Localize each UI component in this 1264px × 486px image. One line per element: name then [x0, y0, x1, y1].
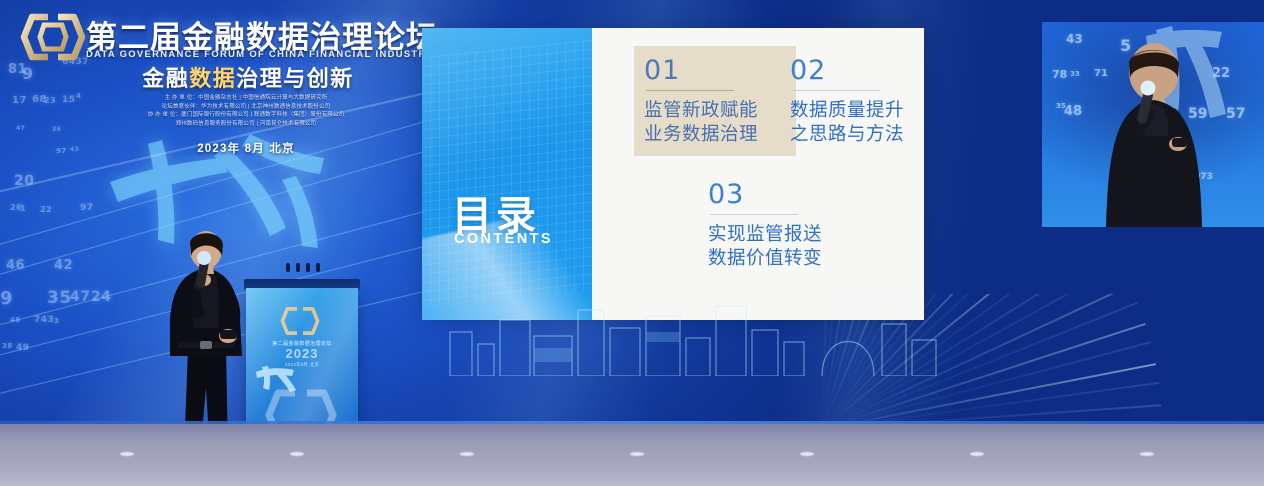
floor-light	[970, 452, 984, 456]
camera-feed-number: 43	[1066, 32, 1083, 46]
podium-mic-icon	[316, 263, 320, 272]
toc-item-01-number: 01	[644, 56, 790, 86]
floor-light	[1140, 452, 1154, 456]
forum-logo-icon	[20, 9, 86, 65]
toc-item-03-line1: 实现监管报送	[708, 222, 856, 246]
camera-feed-number: 48	[1064, 104, 1082, 119]
toc-item-02-line2: 之思路与方法	[790, 122, 924, 146]
slide-toc-list: 01 监管新政赋能 业务数据治理 02 数据质量提升 之思路与方法 03	[592, 28, 924, 320]
floor-light	[460, 452, 474, 456]
forum-theme: 金融数据治理与创新	[88, 61, 408, 93]
toc-item-03-number: 03	[708, 180, 856, 210]
forum-organizers: 主 办 单 位：中国金融杂志社 | 中国信通院云计算与大数据研究所 论坛首席伙伴…	[88, 94, 404, 128]
toc-item-02-line1: 数据质量提升	[790, 98, 924, 122]
toc-item-02[interactable]: 02 数据质量提升 之思路与方法	[790, 56, 924, 146]
toc-item-03-rule	[710, 214, 798, 215]
toc-item-02-text: 数据质量提升 之思路与方法	[790, 98, 924, 146]
speaker-camera-feed: 435783371224835595788973	[1042, 22, 1264, 227]
toc-item-03-line2: 数据价值转变	[708, 246, 856, 270]
podium-mic-icon	[296, 263, 300, 272]
forum-date-location: 2023年 8月 北京	[88, 140, 404, 156]
toc-item-01[interactable]: 01 监管新政赋能 业务数据治理	[634, 46, 796, 156]
toc-item-02-number: 02	[790, 56, 924, 86]
forum-theme-accent: 数据	[189, 66, 236, 91]
toc-item-03-text: 实现监管报送 数据价值转变	[708, 222, 856, 270]
camera-feed-number: 33	[1070, 70, 1080, 78]
forum-theme-part1: 金融	[142, 66, 189, 91]
organizer-line: 协 办 单 位：厦门国际银行股份有限公司 | 联通数字科技（集团）股份有限公司	[88, 111, 404, 120]
city-skyline-graphic	[430, 302, 950, 376]
floor-light	[800, 452, 814, 456]
floor-light	[630, 452, 644, 456]
slide-contents-panel: 目录 CONTENTS	[422, 28, 592, 320]
camera-feed-speaker	[1088, 40, 1220, 227]
conference-stage-photo: 8196437176823154202612297464293547244674…	[0, 0, 1264, 486]
slide-toc-title-en: CONTENTS	[454, 231, 592, 247]
organizer-line: 郑州数码信息服务股份有限公司 | 河南昆仑技术有限公司	[88, 120, 404, 129]
toc-item-01-line2: 业务数据治理	[644, 122, 790, 146]
toc-item-01-text: 监管新政赋能 业务数据治理	[644, 98, 790, 146]
toc-item-03[interactable]: 03 实现监管报送 数据价值转变	[708, 180, 856, 270]
presentation-slide: 目录 CONTENTS 01 监管新政赋能 业务数据治理 02 数据质量提升 之…	[422, 28, 924, 320]
stage-floor	[0, 424, 1264, 486]
floor-light	[290, 452, 304, 456]
toc-item-01-rule	[646, 90, 734, 91]
organizer-line: 论坛首席伙伴：华为技术有限公司 | 北京神州数通信息技术股份公司	[88, 103, 404, 112]
podium-mic-icon	[306, 263, 310, 272]
floor-light	[120, 452, 134, 456]
forum-theme-part2: 治理与创新	[236, 66, 354, 91]
camera-feed-number: 78	[1052, 68, 1067, 81]
camera-feed-number: 35	[1056, 102, 1066, 110]
backdrop-branding-block: 第二届金融数据治理论坛 DATA GOVERNANCE FORUM OF CHI…	[0, 0, 412, 175]
toc-item-02-rule	[792, 90, 880, 91]
forum-title-en: DATA GOVERNANCE FORUM OF CHINA FINANCIAL…	[86, 48, 434, 59]
organizer-line: 主 办 单 位：中国金融杂志社 | 中国信通院云计算与大数据研究所	[88, 94, 404, 103]
podium-mic-icon	[286, 263, 290, 272]
toc-item-01-line1: 监管新政赋能	[644, 98, 790, 122]
